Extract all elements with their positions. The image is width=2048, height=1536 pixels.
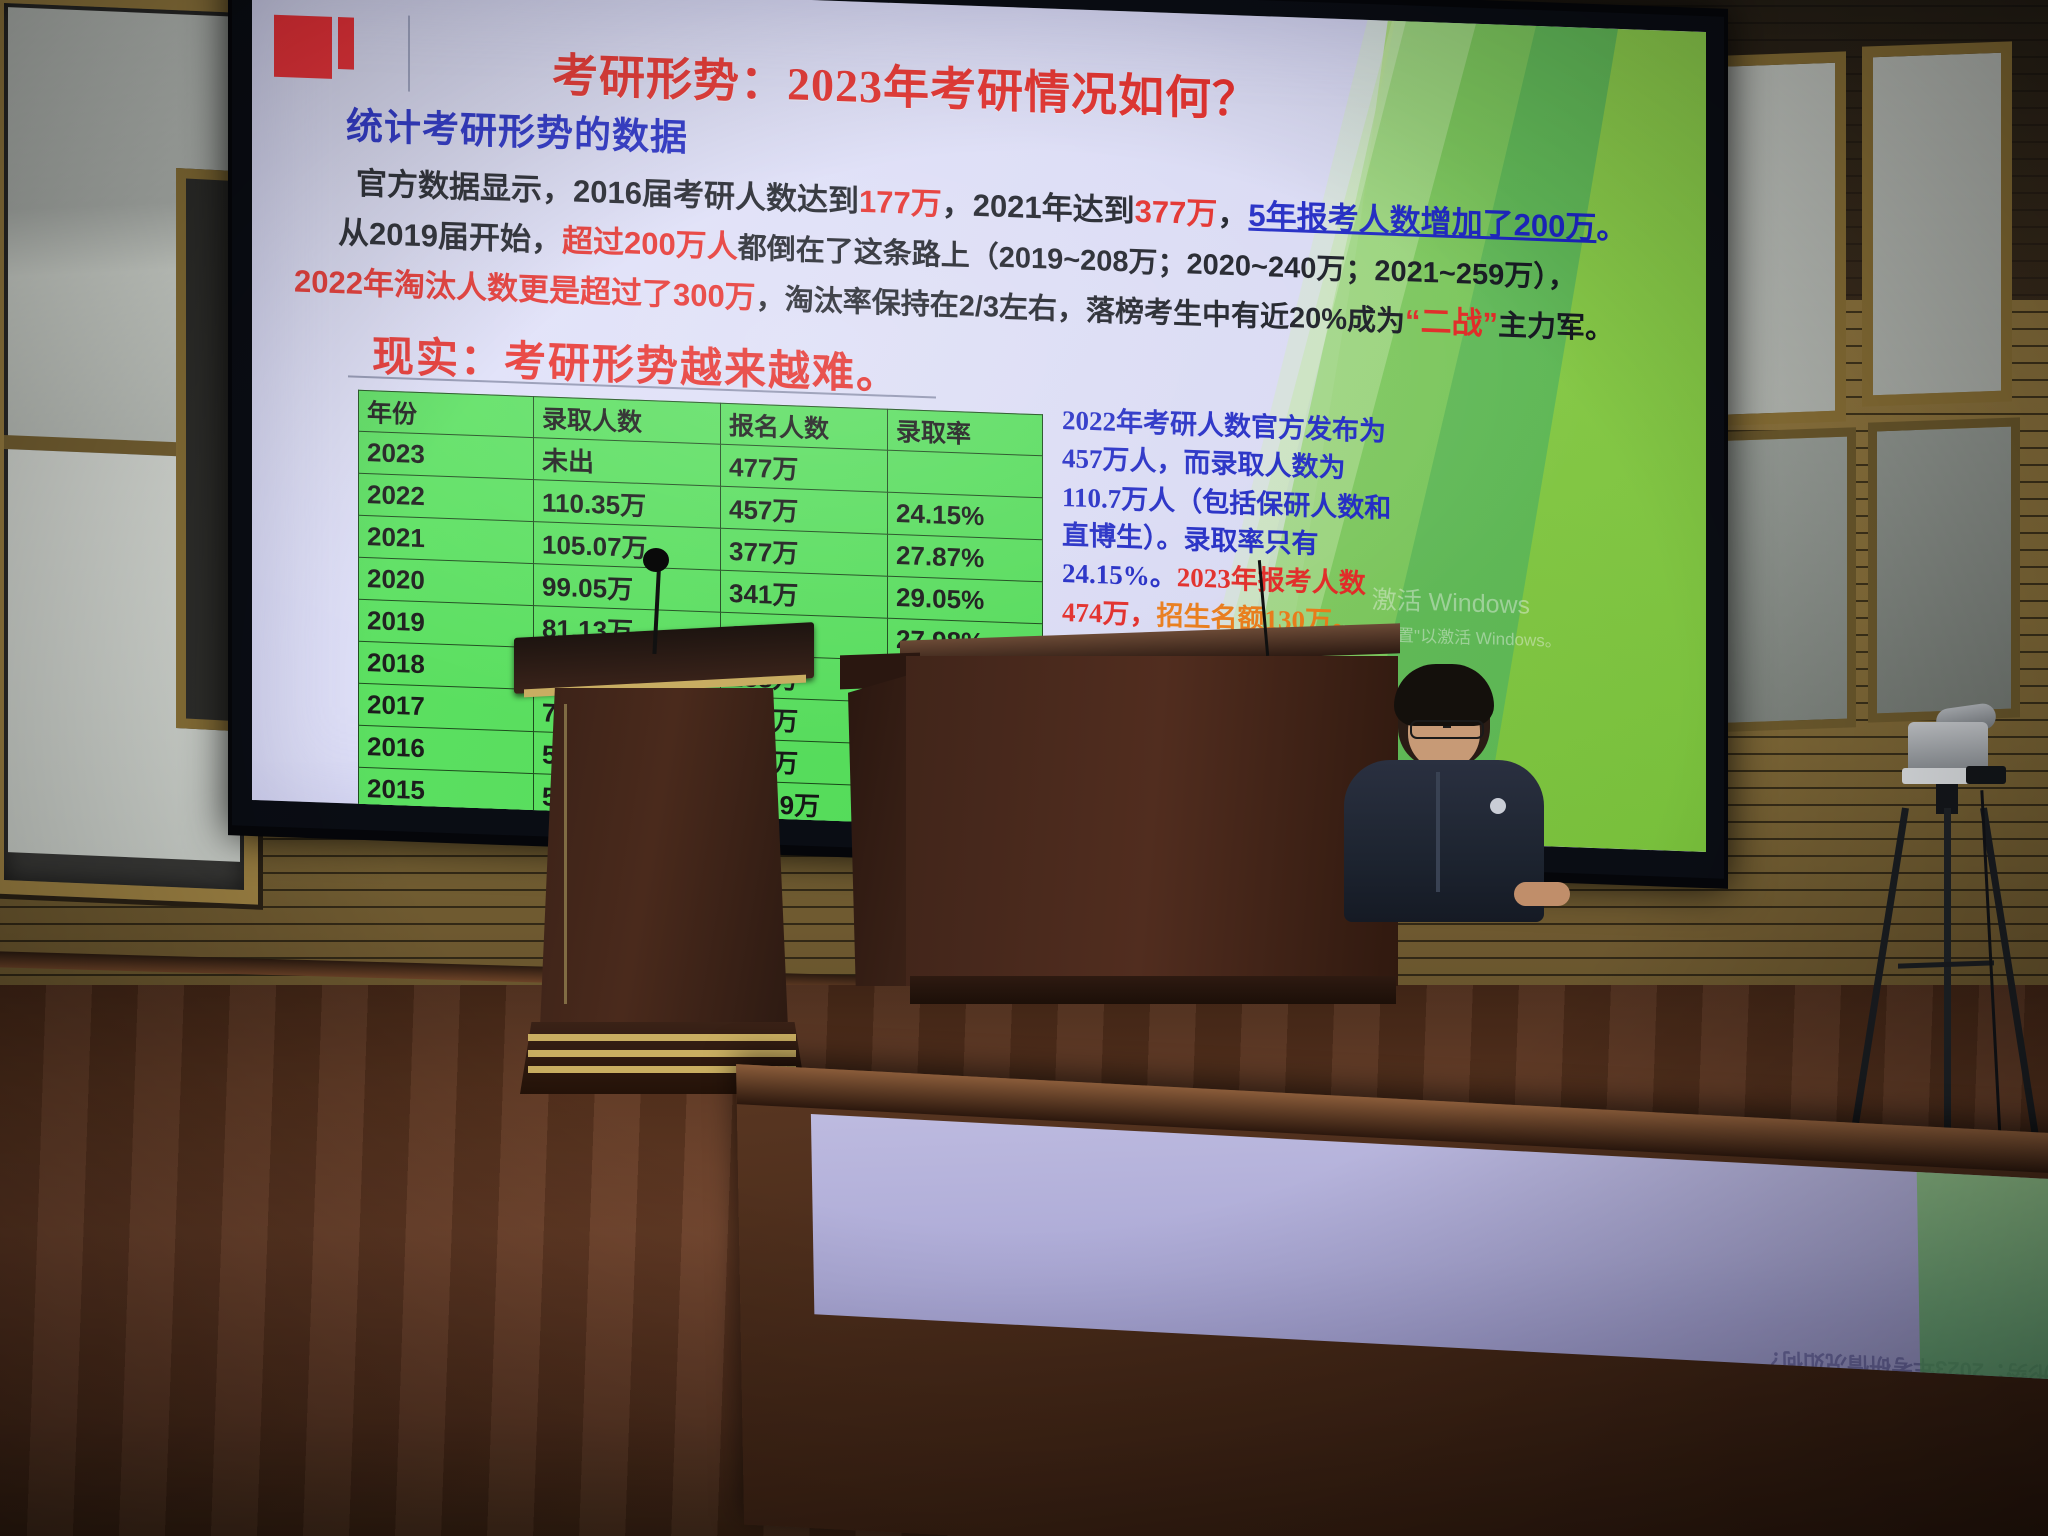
tripod-leg: [1944, 808, 1951, 1158]
cell-year: 2022: [359, 473, 534, 521]
camera-body: [1908, 722, 1988, 772]
cell-applied: 341万: [721, 570, 888, 618]
presenter-person: [1340, 668, 1550, 918]
cell-year: 2021: [359, 515, 534, 563]
cell-year: 2023: [359, 431, 534, 479]
para3-highlight-300wan: 2022年淘汰人数更是超过了300万: [294, 263, 756, 315]
para1-number-177: 177万: [859, 184, 942, 222]
lecture-hall-scene: 考研形势：2023年考研情况如何？ 统计考研形势的数据 官方数据显示，2016届…: [0, 0, 2048, 1536]
presenter-badge-icon: [1490, 798, 1506, 814]
podium-base-stripe: [528, 1034, 796, 1041]
cell-applied: 477万: [721, 444, 888, 492]
para1-highlight-link: 5年报考人数增加了200万: [1248, 198, 1596, 245]
desk-left-side-panel: [848, 674, 912, 986]
title-divider-rule: [408, 16, 410, 92]
cell-rate: 29.05%: [888, 576, 1043, 624]
table-header-rate: 录取率: [888, 409, 1043, 456]
presenter-hair: [1394, 664, 1494, 726]
red-flag-mark-icon: [274, 15, 360, 80]
para1-segment-g: 。: [1596, 210, 1627, 246]
camera-control-panel: [1966, 766, 2006, 784]
window-right-upper-2: [1862, 41, 2012, 406]
presenter-glasses-bridge: [1443, 726, 1451, 728]
presenter-jacket-zipper: [1436, 772, 1440, 892]
para3-quote-erzhan: “二战”: [1405, 303, 1498, 341]
cell-admitted: 99.05万: [534, 564, 721, 613]
desk-front-panel: [906, 656, 1398, 986]
podium-body: [540, 688, 788, 1028]
presenter-glasses-icon: [1410, 720, 1484, 739]
cell-applied: 457万: [721, 486, 888, 534]
table-header-admitted: 录取人数: [534, 397, 721, 445]
cell-rate: [888, 450, 1043, 498]
cell-applied: 377万: [721, 528, 888, 576]
cell-admitted: 未出: [534, 438, 721, 487]
watermark-line-1: 激活 Windows: [1340, 579, 1562, 623]
para3-segment-b: ，淘汰率保持在2/3左右，落榜考生中有近20%成为: [756, 283, 1405, 338]
microphone-head-icon: [643, 548, 669, 572]
para1-number-377: 377万: [1135, 194, 1218, 232]
cell-admitted: 105.07万: [534, 522, 721, 571]
desk-plinth: [910, 976, 1396, 1004]
cell-admitted: 110.35万: [534, 480, 721, 529]
presenter-hand: [1514, 882, 1570, 906]
podium-inlay-stripe: [564, 704, 567, 1004]
para2-highlight-200wan: 超过200万人: [562, 223, 738, 264]
table-header-applied: 报名人数: [721, 403, 888, 450]
slide-reality-line: 现实：考研形势越来越难。: [372, 322, 900, 402]
foreground-glass-table: 考研形势：2023年考研情况如何？: [736, 1064, 2048, 1536]
presenter-desk-right: [840, 632, 1400, 1032]
cell-year: 2020: [359, 557, 534, 605]
cell-rate: 27.87%: [888, 534, 1043, 582]
para1-segment-e: ，: [1217, 197, 1248, 233]
podium-base-stripe: [528, 1050, 796, 1057]
cell-rate: 24.15%: [888, 492, 1043, 540]
window-right-lower-2: [1868, 417, 2020, 722]
table-header-year: 年份: [359, 390, 534, 437]
video-camera-tripod: [1880, 700, 2030, 1160]
speaker-podium-left: [498, 630, 820, 1100]
para3-segment-d: 主力军。: [1498, 310, 1614, 346]
table-reflection-green-accent: [1917, 1172, 2048, 1382]
para2-segment-a: 从2019届开始，: [338, 215, 562, 258]
slide-subtitle: 统计考研形势的数据: [346, 95, 688, 161]
para1-segment-c: ，2021年达到: [942, 187, 1135, 229]
para1-segment-a: 官方数据显示，2016届考研人数达到: [356, 166, 859, 219]
